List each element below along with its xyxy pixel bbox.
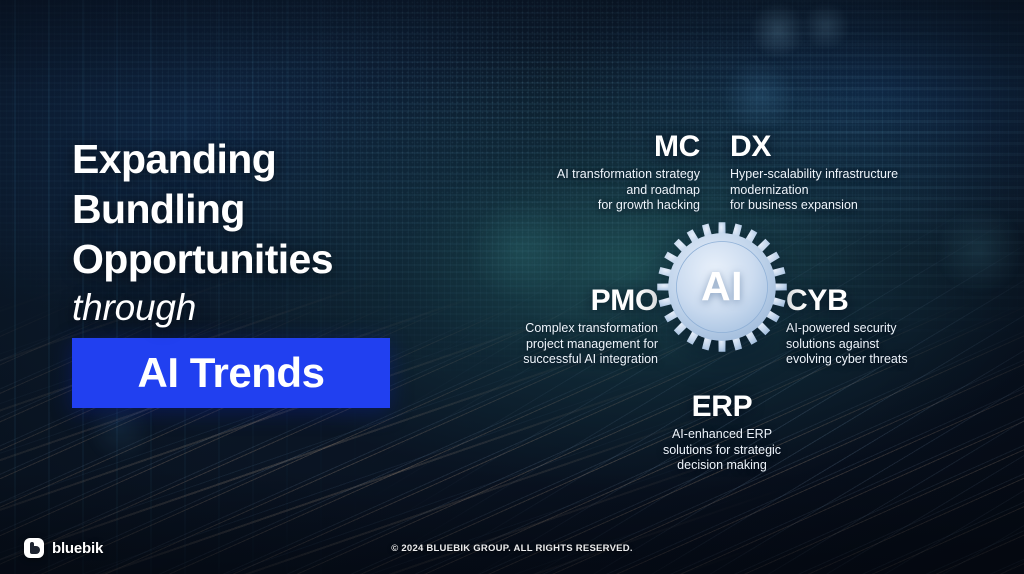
node-dx-title: DX <box>730 130 960 164</box>
node-pmo-desc-line-1: Complex transformation <box>490 321 658 337</box>
node-erp-desc-line-1: AI-enhanced ERP <box>632 427 812 443</box>
node-pmo-title: PMO <box>490 284 658 318</box>
headline-line-2: Bundling <box>72 184 472 234</box>
headline-line-1: Expanding <box>72 134 472 184</box>
node-dx[interactable]: DX Hyper-scalability infrastructure mode… <box>730 130 960 214</box>
node-cyb[interactable]: CYB AI-powered security solutions agains… <box>786 284 966 368</box>
headline-line-3: Opportunities <box>72 234 472 284</box>
node-erp-desc-line-3: decision making <box>632 458 812 474</box>
ai-trends-highlight-box: AI Trends <box>72 338 390 408</box>
node-pmo[interactable]: PMO Complex transformation project manag… <box>490 284 658 368</box>
node-erp-title: ERP <box>632 390 812 424</box>
ai-trends-label: AI Trends <box>138 352 325 394</box>
node-erp-description: AI-enhanced ERP solutions for strategic … <box>632 427 812 474</box>
node-cyb-desc-line-3: evolving cyber threats <box>786 352 966 368</box>
node-cyb-description: AI-powered security solutions against ev… <box>786 321 966 368</box>
node-cyb-title: CYB <box>786 284 966 318</box>
node-dx-description: Hyper-scalability infrastructure moderni… <box>730 167 960 214</box>
node-cyb-desc-line-2: solutions against <box>786 337 966 353</box>
node-erp-desc-line-2: solutions for strategic <box>632 443 812 459</box>
node-dx-desc-line-1: Hyper-scalability infrastructure <box>730 167 960 183</box>
node-dx-desc-line-2: modernization <box>730 183 960 199</box>
headline-connector: through <box>72 284 472 332</box>
node-pmo-desc-line-3: successful AI integration <box>490 352 658 368</box>
node-cyb-desc-line-1: AI-powered security <box>786 321 966 337</box>
copyright-text: © 2024 BLUEBIK GROUP. ALL RIGHTS RESERVE… <box>0 543 1024 554</box>
slide-canvas: Expanding Bundling Opportunities through… <box>0 0 1024 574</box>
node-erp[interactable]: ERP AI-enhanced ERP solutions for strate… <box>632 390 812 474</box>
node-dx-desc-line-3: for business expansion <box>730 198 960 214</box>
ai-gear-label: AI <box>653 218 791 356</box>
node-pmo-description: Complex transformation project managemen… <box>490 321 658 368</box>
node-pmo-desc-line-2: project management for <box>490 337 658 353</box>
ai-gear-icon[interactable]: AI <box>653 218 791 356</box>
headline-block: Expanding Bundling Opportunities through… <box>72 134 472 408</box>
